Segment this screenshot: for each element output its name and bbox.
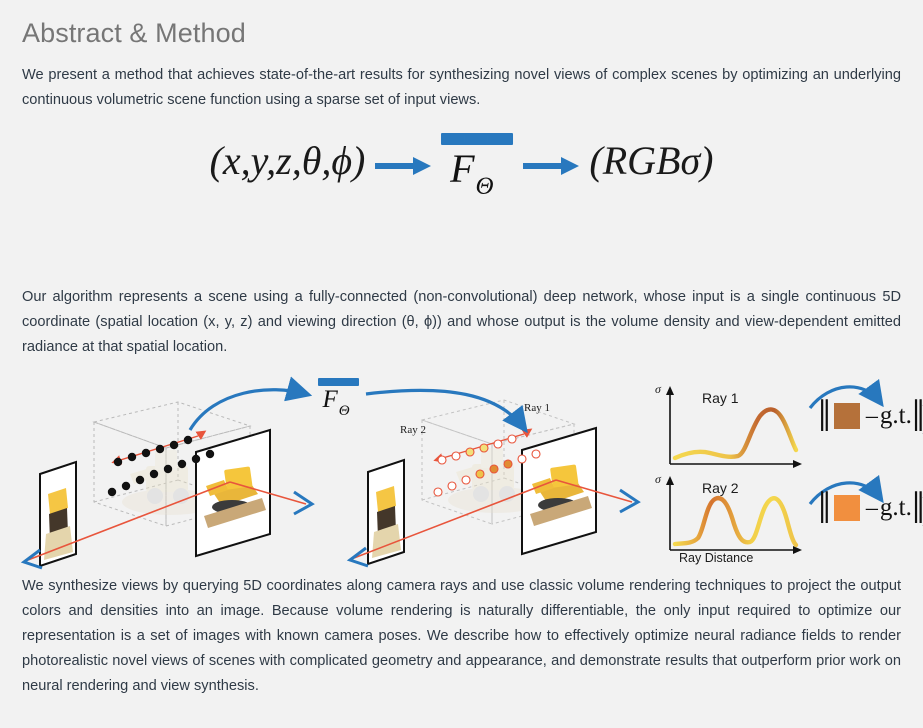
figure1-network-block: FΘ bbox=[441, 133, 513, 189]
minus-sign: – bbox=[866, 495, 878, 522]
plot2-y-axis-label: σ bbox=[655, 472, 661, 487]
loss-expression-ray2: ‖ – g.t. ‖ 2 2 bbox=[818, 486, 923, 530]
panel-b-image-plane-left bbox=[368, 460, 404, 564]
panel-b-image-plane-right bbox=[522, 428, 596, 554]
arrow-right-icon-output bbox=[523, 155, 579, 182]
panel-a-image-plane-left bbox=[40, 462, 76, 566]
mlp-slabs-icon bbox=[441, 133, 513, 145]
plot1-title: Ray 1 bbox=[702, 390, 739, 406]
panel-a-image-plane-right bbox=[196, 430, 270, 556]
norm-bars-open: ‖ bbox=[818, 398, 828, 435]
page-root: Abstract & Method We present a method th… bbox=[0, 18, 923, 728]
abstract-paragraph-3: We synthesize views by querying 5D coord… bbox=[18, 574, 905, 699]
minus-sign: – bbox=[866, 403, 878, 430]
panel-b-scene bbox=[350, 390, 638, 566]
abstract-paragraph-1: We present a method that achieves state-… bbox=[18, 63, 905, 113]
abstract-paragraph-2: Our algorithm represents a scene using a… bbox=[18, 285, 905, 360]
plot2-x-axis-label: Ray Distance bbox=[679, 551, 753, 565]
panel-a-scene bbox=[24, 390, 312, 568]
figure1-input-tuple: (x,y,z,θ,ϕ) bbox=[210, 141, 366, 181]
loss-expression-ray1: ‖ – g.t. ‖ 2 2 bbox=[818, 394, 923, 438]
plot2-title: Ray 2 bbox=[702, 480, 739, 496]
ground-truth-label: g.t. bbox=[880, 402, 912, 430]
figure1-output-tuple: (RGBσ) bbox=[589, 141, 713, 181]
norm-bars-close: ‖ bbox=[912, 398, 922, 435]
ground-truth-label: g.t. bbox=[880, 494, 912, 522]
figure2-ftheta-label: FΘ bbox=[322, 387, 348, 412]
norm-bars-close: ‖ bbox=[912, 490, 922, 527]
figure2-ray1-label: Ray 1 bbox=[524, 402, 550, 414]
mlp-slabs-icon-small bbox=[318, 378, 359, 386]
figure2-ray2-label: Ray 2 bbox=[400, 424, 426, 436]
page-title: Abstract & Method bbox=[18, 18, 905, 49]
predicted-color-swatch-ray2 bbox=[834, 495, 860, 521]
figure2-network-block: FΘ bbox=[318, 378, 359, 412]
figure1-ftheta-label: FΘ bbox=[450, 149, 493, 189]
arrow-right-icon-input bbox=[375, 155, 431, 182]
norm-bars-open: ‖ bbox=[818, 490, 828, 527]
plot1-y-axis-label: σ bbox=[655, 382, 661, 397]
predicted-color-swatch-ray1 bbox=[834, 403, 860, 429]
figure-nerf-pipeline: FΘ Ray 2 Ray 1 σ Ray 1 σ Ray 2 Ray Dista… bbox=[18, 374, 905, 574]
figure-nerf-function: (x,y,z,θ,ϕ) FΘ (RGBσ) bbox=[18, 125, 905, 285]
figure2-illustration bbox=[18, 374, 905, 574]
